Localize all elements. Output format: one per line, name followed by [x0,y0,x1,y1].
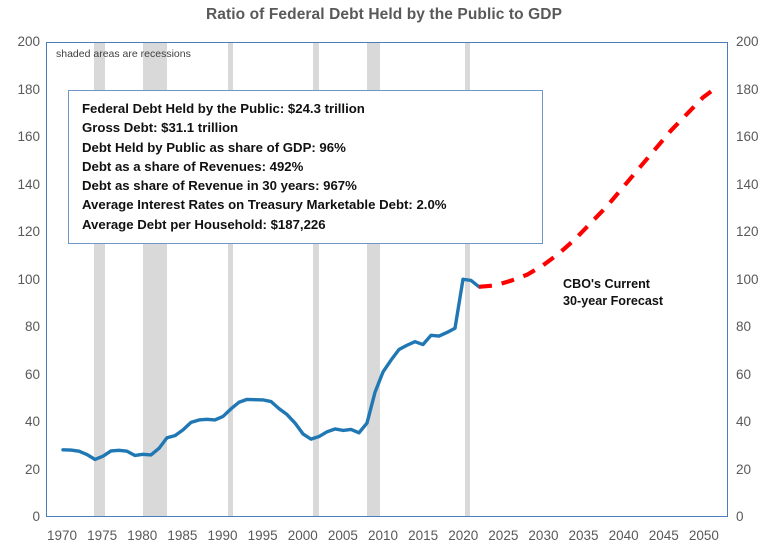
y-axis-tick-right: 160 [736,130,768,144]
y-axis-tick-right: 60 [736,368,768,382]
y-axis-tick-left: 140 [0,178,40,192]
info-box-line: Average Debt per Household: $187,226 [82,215,530,234]
info-box-line: Debt as a share of Revenues: 492% [82,157,530,176]
historical-debt-line [63,279,479,459]
chart-container: Ratio of Federal Debt Held by the Public… [0,0,768,560]
recession-note: shaded areas are recessions [56,48,191,60]
y-axis-tick-right: 200 [736,35,768,49]
x-axis-tick: 2050 [674,529,734,543]
info-box-line: Gross Debt: $31.1 trillion [82,118,530,137]
y-axis-tick-left: 60 [0,368,40,382]
y-axis-tick-right: 120 [736,225,768,239]
forecast-annotation-line2: 30-year Forecast [563,293,663,310]
info-box-line: Debt as share of Revenue in 30 years: 96… [82,176,530,195]
y-axis-tick-left: 200 [0,35,40,49]
y-axis-tick-left: 0 [0,510,40,524]
y-axis-tick-left: 120 [0,225,40,239]
y-axis-tick-left: 80 [0,320,40,334]
y-axis-tick-right: 100 [736,273,768,287]
y-axis-tick-left: 100 [0,273,40,287]
y-axis-tick-right: 140 [736,178,768,192]
info-box-line: Debt Held by Public as share of GDP: 96% [82,138,530,157]
y-axis-tick-left: 20 [0,463,40,477]
y-axis-tick-right: 0 [736,510,768,524]
info-box-line: Average Interest Rates on Treasury Marke… [82,195,530,214]
info-box-line: Federal Debt Held by the Public: $24.3 t… [82,99,530,118]
y-axis-tick-left: 180 [0,83,40,97]
y-axis-tick-left: 160 [0,130,40,144]
forecast-annotation-line1: CBO's Current [563,276,663,293]
forecast-annotation: CBO's Current 30-year Forecast [563,276,663,310]
y-axis-tick-right: 20 [736,463,768,477]
y-axis-tick-right: 40 [736,415,768,429]
chart-title: Ratio of Federal Debt Held by the Public… [0,6,768,24]
summary-info-box: Federal Debt Held by the Public: $24.3 t… [68,90,543,244]
y-axis-tick-left: 40 [0,415,40,429]
y-axis-tick-right: 80 [736,320,768,334]
y-axis-tick-right: 180 [736,83,768,97]
